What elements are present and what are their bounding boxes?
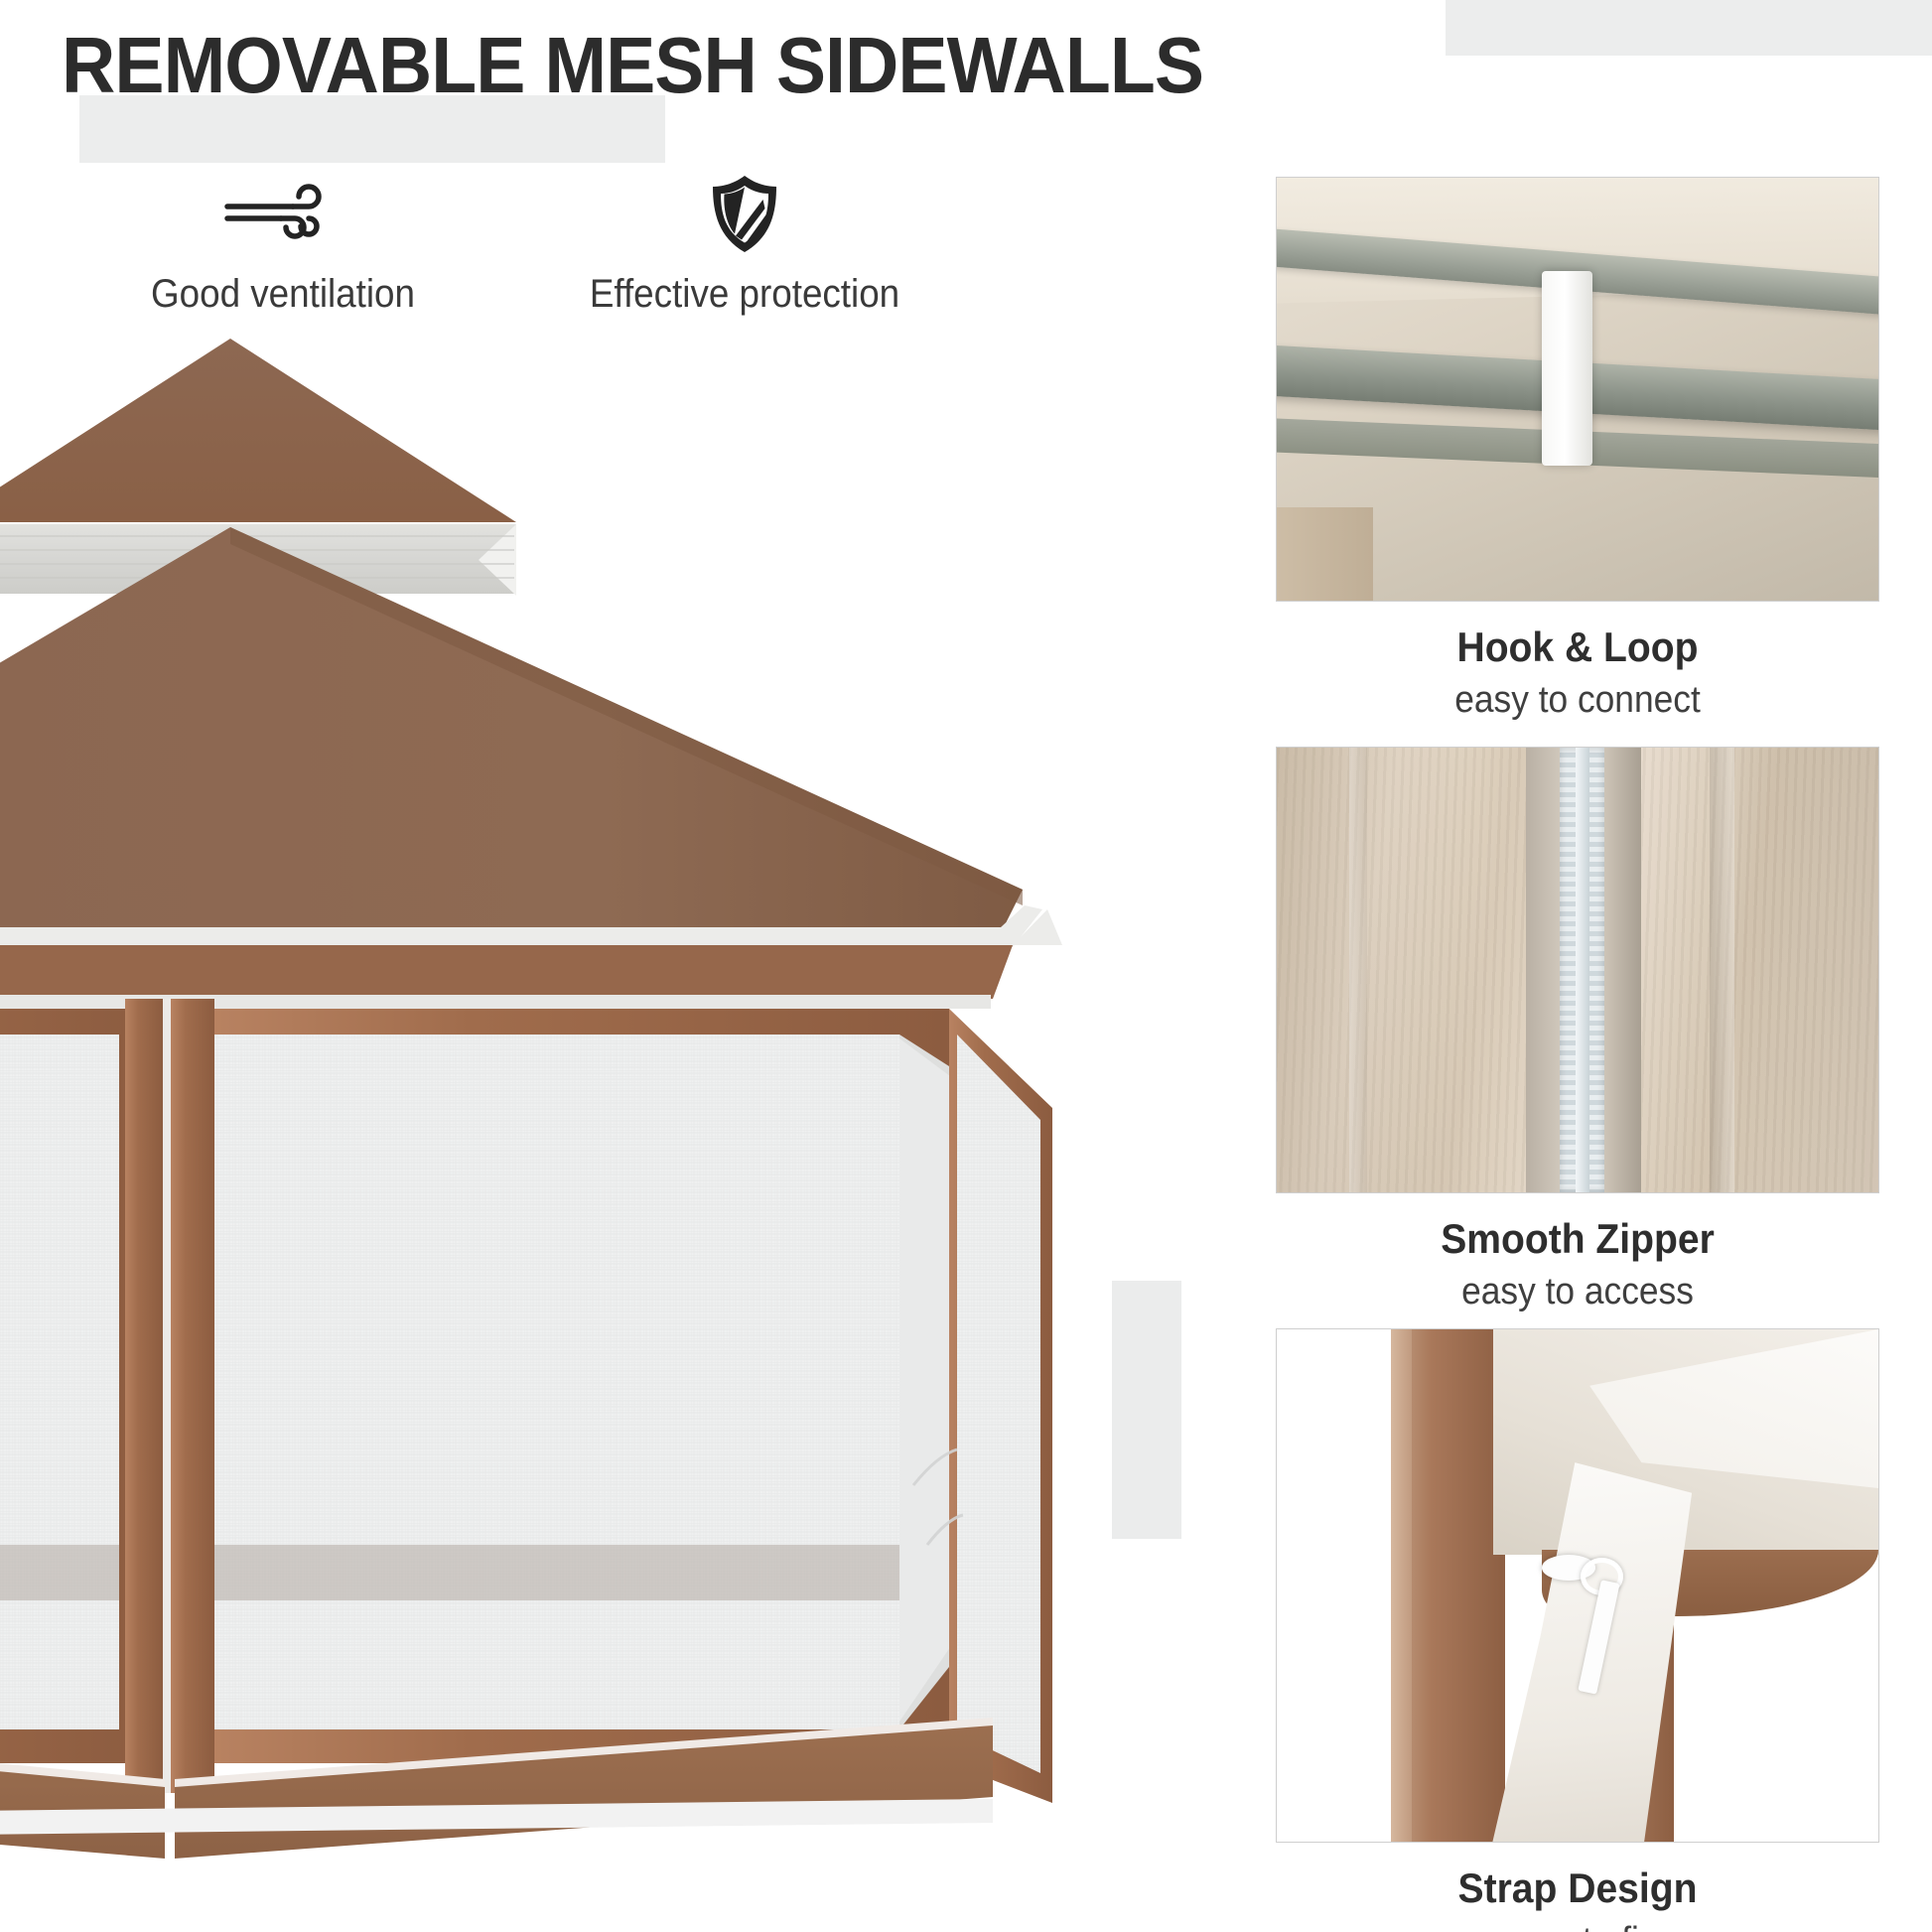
card-strap-design: Strap Design easy to fix [1276,1328,1879,1932]
card-hook-and-loop: Hook & Loop easy to connect [1276,177,1879,722]
card-title: Smooth Zipper [1297,1215,1858,1263]
card-title: Hook & Loop [1297,623,1858,671]
shield-icon [551,177,938,252]
infographic-canvas: REMOVABLE MESH SIDEWALLS Good ventilatio… [0,0,1932,1932]
card-smooth-zipper: Smooth Zipper easy to access [1276,747,1879,1313]
card-title: Strap Design [1297,1864,1858,1912]
page-title: REMOVABLE MESH SIDEWALLS [62,26,1203,105]
feature-good-ventilation: Good ventilation [89,177,477,317]
feature-label: Effective protection [567,272,923,317]
feature-label: Good ventilation [105,272,462,317]
hook-and-loop-photo [1276,177,1879,602]
smooth-zipper-photo [1276,747,1879,1193]
decor-plate-top-right [1446,0,1932,56]
card-subtitle: easy to connect [1297,679,1858,722]
card-subtitle: easy to access [1297,1271,1858,1313]
strap-design-photo [1276,1328,1879,1843]
wind-icon [89,177,477,252]
gazebo-illustration [0,314,1172,1863]
card-subtitle: easy to fix [1297,1920,1858,1932]
feature-effective-protection: Effective protection [551,177,938,317]
